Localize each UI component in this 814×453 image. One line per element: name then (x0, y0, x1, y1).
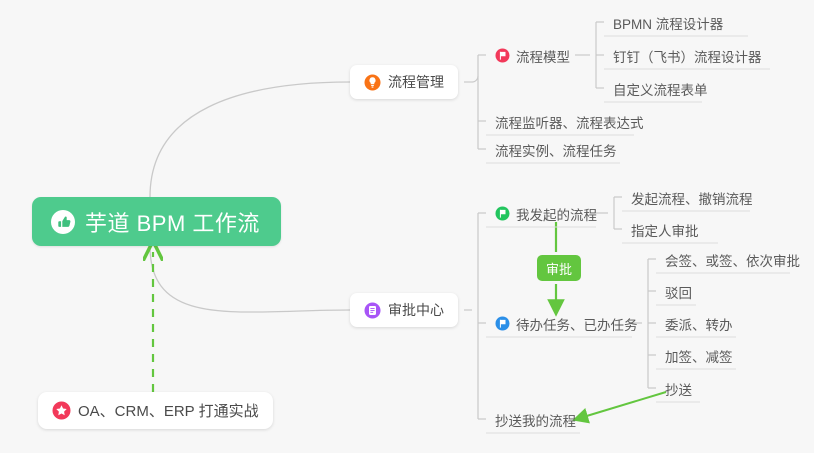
node-countersign-orsign-sequential[interactable]: 会签、或签、依次审批 (656, 246, 809, 273)
branch-approval-center[interactable]: 审批中心 (350, 293, 458, 327)
approval-tag: 审批 (537, 255, 581, 281)
bottom-note-label: OA、CRM、ERP 打通实战 (78, 400, 259, 421)
thumbs-up-icon (50, 209, 76, 235)
node-instance-task[interactable]: 流程实例、流程任务 (486, 136, 626, 163)
node-listener-expression[interactable]: 流程监听器、流程表达式 (486, 108, 653, 135)
root-node[interactable]: 芋道 BPM 工作流 (32, 197, 281, 246)
node-bpmn-designer[interactable]: BPMN 流程设计器 (604, 9, 732, 36)
node-label: 抄送我的流程 (495, 410, 576, 430)
node-dingtalk-feishu-designer[interactable]: 钉钉（飞书）流程设计器 (604, 42, 771, 69)
node-label: 发起流程、撤销流程 (631, 188, 753, 208)
node-label: 委派、转办 (665, 314, 733, 334)
node-label: 会签、或签、依次审批 (665, 250, 800, 270)
node-my-initiated-process[interactable]: 我发起的流程 (486, 200, 606, 227)
node-label: 加签、减签 (665, 346, 733, 366)
approval-tag-label: 审批 (546, 259, 572, 278)
node-cc-to-me-process[interactable]: 抄送我的流程 (486, 406, 585, 433)
branch-process-management[interactable]: 流程管理 (350, 65, 458, 99)
mindmap-canvas: 芋道 BPM 工作流 流程管理 流程模型 BPMN 流程设计器 钉钉（飞书）流程… (0, 0, 814, 453)
node-label: 我发起的流程 (516, 204, 597, 224)
node-label: 驳回 (665, 282, 692, 302)
node-label: 待办任务、已办任务 (516, 314, 638, 334)
clipboard-icon (364, 302, 381, 319)
node-process-model[interactable]: 流程模型 (486, 42, 579, 69)
flag-icon (495, 316, 510, 331)
node-add-remove-sign[interactable]: 加签、减签 (656, 342, 742, 369)
branch-label: 审批中心 (388, 300, 444, 320)
node-label: 指定人审批 (631, 220, 699, 240)
node-label: 钉钉（飞书）流程设计器 (613, 46, 762, 66)
star-icon (52, 401, 71, 420)
node-label: 流程监听器、流程表达式 (495, 112, 644, 132)
link-root-to-process-management (150, 82, 350, 197)
flag-icon (495, 48, 510, 63)
node-cc[interactable]: 抄送 (656, 375, 701, 402)
node-label: 流程实例、流程任务 (495, 140, 617, 160)
node-custom-process-form[interactable]: 自定义流程表单 (604, 75, 717, 102)
lightbulb-icon (364, 74, 381, 91)
node-assignee-approval[interactable]: 指定人审批 (622, 216, 708, 243)
flag-icon (495, 206, 510, 221)
node-label: 流程模型 (516, 46, 570, 66)
root-label: 芋道 BPM 工作流 (85, 206, 260, 238)
link-root-to-approval-center (150, 246, 350, 312)
node-label: BPMN 流程设计器 (613, 13, 723, 33)
bottom-note-node[interactable]: OA、CRM、ERP 打通实战 (38, 392, 273, 429)
node-todo-done-tasks[interactable]: 待办任务、已办任务 (486, 310, 647, 337)
node-label: 自定义流程表单 (613, 79, 708, 99)
node-delegate-transfer[interactable]: 委派、转办 (656, 310, 742, 337)
node-label: 抄送 (665, 379, 692, 399)
node-start-cancel-process[interactable]: 发起流程、撤销流程 (622, 184, 762, 211)
branch-label: 流程管理 (388, 72, 444, 92)
link-pm-corner (472, 76, 478, 82)
arrow-cc-to-my-cc-process (580, 392, 666, 418)
node-reject[interactable]: 驳回 (656, 278, 701, 305)
